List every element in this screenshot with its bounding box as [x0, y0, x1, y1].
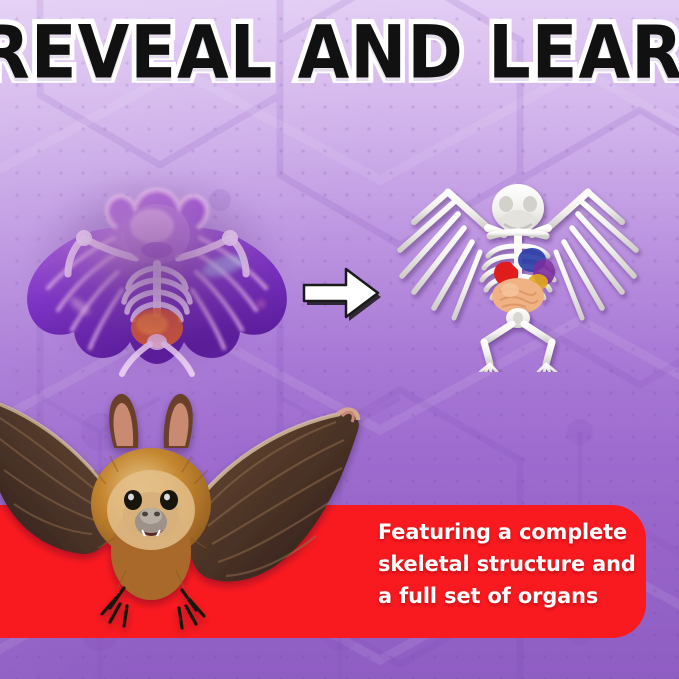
page-title: REVEAL AND LEARN [0, 16, 679, 79]
callout-line-2: skeletal structure and [378, 549, 646, 581]
bat-photograph [0, 392, 406, 652]
product-poster: REVEAL AND LEARN [0, 0, 679, 679]
bat-left-wing [0, 396, 112, 554]
bat-ears [109, 394, 193, 448]
bat-right-wing [191, 410, 359, 582]
bat-skeleton-model [392, 176, 644, 372]
translucent-bat-toy [18, 162, 296, 384]
feature-callout-text: Featuring a complete skeletal structure … [378, 517, 646, 613]
toy-bat-glow [28, 176, 286, 372]
bat-face [123, 490, 179, 540]
skeleton-right-wing [548, 192, 636, 318]
callout-line-1: Featuring a complete [378, 517, 646, 549]
headline-text: REVEAL AND LEARN [0, 16, 679, 89]
right-arrow-icon [300, 262, 382, 328]
skeleton-skull [492, 184, 544, 234]
skeleton-left-wing [400, 192, 488, 318]
callout-line-3: a full set of organs [378, 581, 646, 613]
